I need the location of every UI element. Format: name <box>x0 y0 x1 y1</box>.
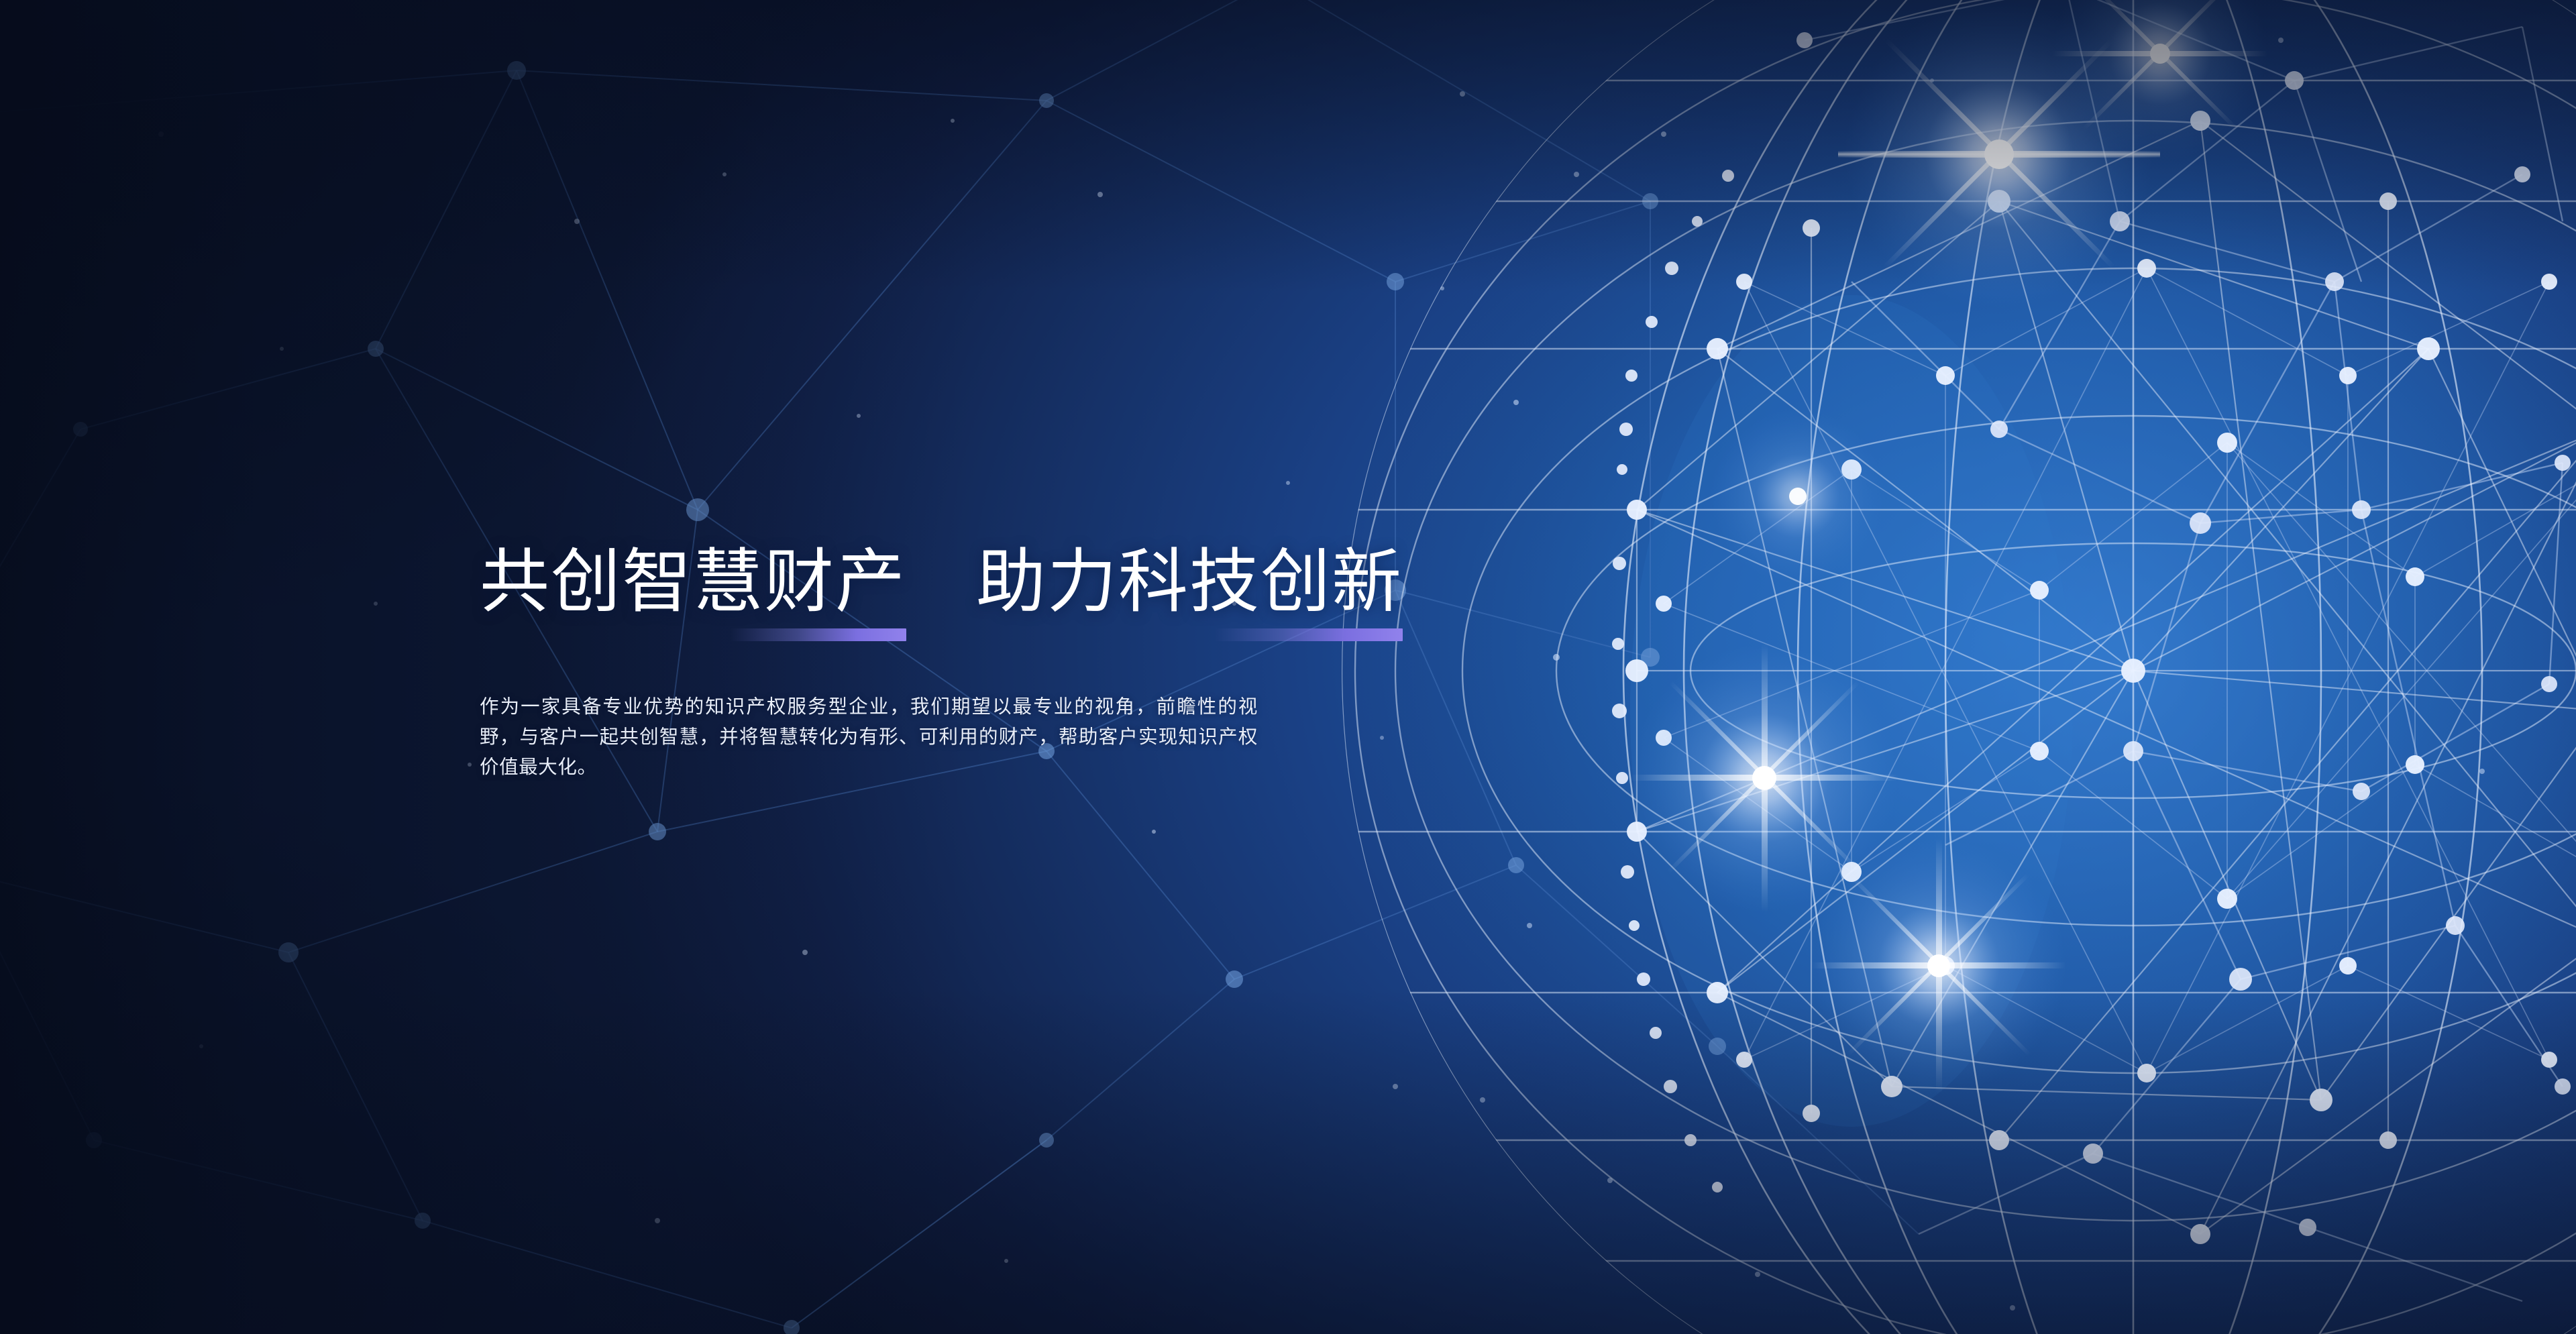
hero-text-block: 共创智慧财产 助力科技创新 作为一家具备专业优势的知识产权服务型企业，我们期望以… <box>480 542 1486 802</box>
headline-segment-two: 助力科技创新 <box>976 542 1403 622</box>
headline-segment-one: 共创智慧财产 <box>480 542 906 622</box>
accent-underline-one <box>731 628 906 641</box>
flare-node-3 <box>1811 838 2066 1093</box>
hero-description: 作为一家具备专业优势的知识产权服务型企业，我们期望以最专业的视角，前瞻性的视野，… <box>480 692 1258 783</box>
flare-node-5 <box>1711 409 1885 583</box>
page-title: 共创智慧财产 助力科技创新 <box>480 542 1486 622</box>
accent-underline-two <box>1215 628 1403 641</box>
banner-hero: 共创智慧财产 助力科技创新 作为一家具备专业优势的知识产权服务型企业，我们期望以… <box>0 0 2576 1334</box>
headline-text-one: 共创智慧财产 <box>480 542 906 622</box>
headline-text-two: 助力科技创新 <box>976 542 1403 622</box>
